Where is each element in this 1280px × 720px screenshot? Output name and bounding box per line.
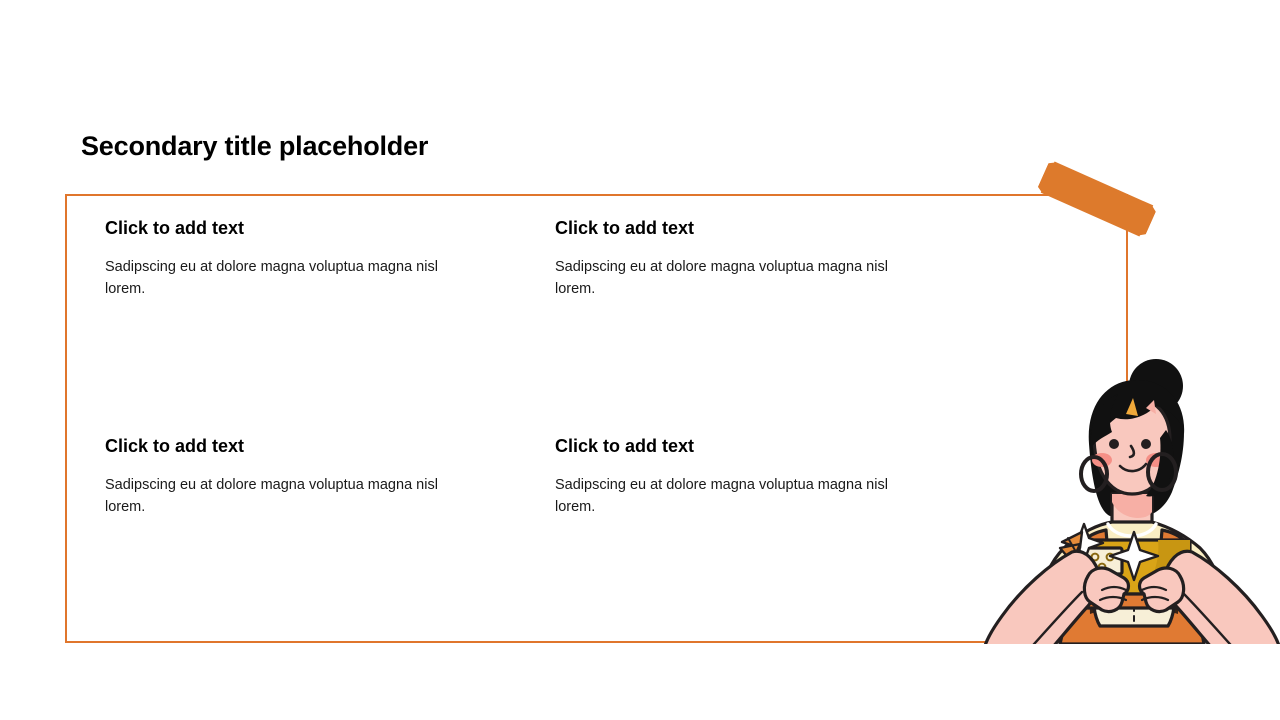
text-cell[interactable]: Click to add text Sadipscing eu at dolor… [555,436,955,519]
cell-heading[interactable]: Click to add text [555,218,955,240]
text-cell[interactable]: Click to add text Sadipscing eu at dolor… [105,436,505,519]
cell-body[interactable]: Sadipscing eu at dolore magna voluptua m… [555,474,927,519]
cell-heading[interactable]: Click to add text [105,436,505,458]
page-title: Secondary title placeholder [81,131,428,162]
cell-body[interactable]: Sadipscing eu at dolore magna voluptua m… [105,256,477,301]
cell-heading[interactable]: Click to add text [555,436,955,458]
cell-heading[interactable]: Click to add text [105,218,505,240]
cell-body[interactable]: Sadipscing eu at dolore magna voluptua m… [555,256,927,301]
text-cell[interactable]: Click to add text Sadipscing eu at dolor… [555,218,955,301]
text-cell[interactable]: Click to add text Sadipscing eu at dolor… [105,218,505,301]
cell-body[interactable]: Sadipscing eu at dolore magna voluptua m… [105,474,477,519]
woman-with-gift-illustration [960,352,1280,644]
